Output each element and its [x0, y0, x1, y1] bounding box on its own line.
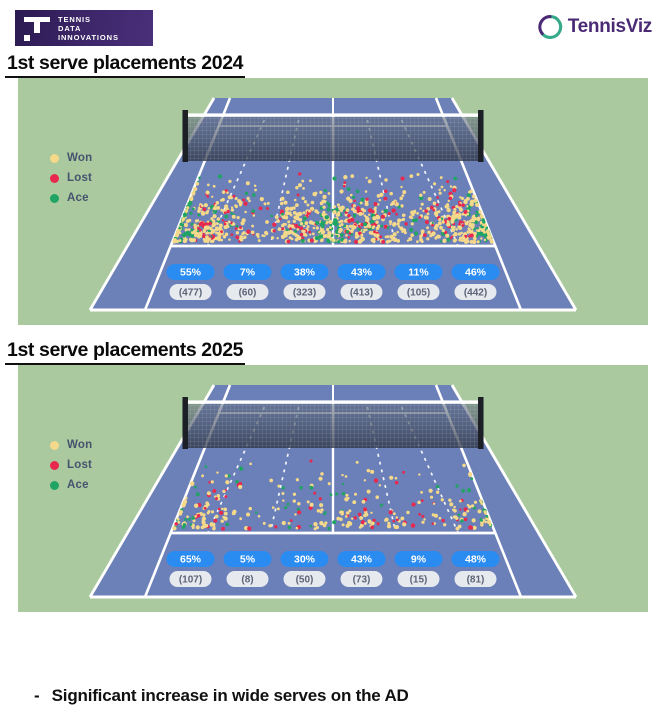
serve-dot	[278, 227, 282, 231]
serve-dot	[360, 234, 363, 237]
serve-dot	[412, 503, 416, 507]
serve-dot	[367, 519, 371, 523]
court-diagram: 55%(477)7%(60)38%(323)43%(413)11%(105)46…	[18, 78, 648, 325]
legend-label-lost: Lost	[67, 172, 92, 184]
serve-dot	[416, 212, 419, 215]
serve-dot	[188, 518, 191, 521]
serve-dot	[391, 236, 394, 239]
won-swatch-icon	[50, 154, 59, 163]
serve-dot	[425, 220, 429, 224]
serve-dot	[411, 222, 414, 225]
serve-dot	[482, 508, 484, 510]
serve-dot	[395, 481, 399, 485]
serve-dot	[208, 207, 211, 210]
zone-count-label: (105)	[407, 288, 430, 299]
serve-dot	[469, 202, 473, 206]
serve-dot	[235, 197, 238, 200]
serve-dot	[462, 224, 465, 227]
serve-dot	[313, 522, 317, 526]
serve-dot	[441, 519, 444, 522]
serve-dot	[239, 466, 243, 470]
serve-dot	[443, 523, 446, 526]
serve-dot	[281, 213, 284, 216]
serve-dot	[385, 518, 389, 522]
serve-dot	[228, 195, 232, 199]
serve-dot	[332, 239, 336, 243]
zone-percentage-label: 38%	[294, 267, 316, 279]
serve-dot	[310, 525, 313, 528]
serve-dot	[307, 500, 310, 503]
serve-dot	[272, 223, 276, 227]
serve-dot	[431, 522, 434, 525]
serve-dot	[396, 518, 399, 521]
serve-dot	[190, 523, 193, 526]
serve-dot	[389, 476, 393, 480]
serve-dot	[259, 207, 263, 211]
serve-dot	[287, 503, 290, 506]
serve-dot	[343, 181, 346, 184]
serve-dot	[218, 508, 221, 511]
serve-dot	[350, 194, 353, 197]
serve-dot	[224, 211, 227, 214]
ace-swatch-icon	[50, 194, 59, 203]
serve-dot	[432, 209, 435, 212]
legend-item-won: Won	[50, 152, 92, 164]
serve-dot	[449, 502, 453, 506]
serve-dot	[404, 231, 407, 234]
serve-dot	[310, 503, 314, 507]
serve-dot	[183, 523, 186, 526]
serve-dot	[402, 471, 405, 474]
serve-dot	[337, 240, 340, 243]
serve-dot	[340, 233, 344, 237]
serve-dot	[309, 220, 313, 224]
serve-dot	[373, 230, 376, 233]
serve-dot	[217, 232, 221, 236]
serve-dot	[483, 510, 486, 513]
serve-dot	[431, 232, 435, 236]
won-swatch-icon	[50, 441, 59, 450]
serve-dot	[421, 521, 424, 524]
serve-dot	[239, 226, 242, 229]
serve-dot	[367, 490, 371, 494]
serve-dot	[436, 485, 439, 488]
serve-dot	[458, 238, 461, 241]
serve-dot	[485, 515, 488, 518]
serve-dot	[254, 184, 257, 187]
serve-dot	[221, 508, 223, 510]
serve-dot	[183, 501, 186, 504]
serve-dot	[220, 199, 223, 202]
zone-percentage-label: 43%	[351, 267, 373, 279]
serve-dot	[350, 218, 354, 222]
serve-dot	[327, 216, 329, 218]
serve-dot	[308, 231, 311, 234]
serve-dot	[210, 207, 213, 210]
serve-dot	[274, 525, 277, 528]
serve-dot	[477, 240, 480, 243]
serve-dot	[365, 229, 368, 232]
legend-label-won: Won	[67, 152, 92, 164]
serve-dot	[337, 203, 340, 206]
serve-dot	[420, 491, 423, 494]
serve-dot	[210, 240, 213, 243]
serve-dot	[183, 213, 187, 217]
serve-dot	[394, 525, 398, 529]
serve-dot	[435, 214, 438, 217]
serve-dot	[306, 204, 309, 207]
serve-dot	[433, 182, 436, 185]
serve-dot	[324, 234, 328, 238]
tennisviz-ring-icon	[537, 14, 563, 40]
serve-dot	[248, 200, 251, 203]
serve-dot	[301, 230, 304, 233]
serve-dot	[228, 220, 231, 223]
serve-dot	[232, 223, 235, 226]
serve-dot	[388, 212, 391, 215]
serve-dot	[293, 493, 296, 496]
serve-dot	[461, 489, 465, 493]
serve-dot	[346, 228, 349, 231]
serve-dot	[377, 194, 381, 198]
serve-dot	[188, 219, 191, 222]
serve-dot	[260, 197, 264, 201]
serve-dot	[297, 510, 301, 514]
serve-dot	[283, 223, 285, 225]
serve-dot	[289, 230, 293, 234]
net-post-left	[182, 110, 188, 162]
serve-dot	[434, 226, 438, 230]
serve-dot	[452, 508, 455, 511]
legend-label-ace: Ace	[67, 479, 89, 491]
serve-dot	[400, 204, 403, 207]
serve-dot	[339, 224, 342, 227]
serve-dot	[221, 520, 224, 523]
serve-dot	[205, 235, 209, 239]
serve-dot	[307, 225, 310, 228]
serve-dot	[360, 198, 364, 202]
serve-dot	[328, 192, 331, 195]
serve-dot	[489, 524, 492, 527]
serve-dot	[453, 208, 456, 211]
serve-dot	[321, 200, 325, 204]
serve-dot	[358, 228, 361, 231]
serve-dot	[284, 231, 288, 235]
serve-dot	[224, 223, 227, 226]
serve-dot	[345, 494, 348, 497]
serve-dot	[208, 237, 211, 240]
serve-dot	[423, 518, 425, 520]
serve-dot	[311, 201, 315, 205]
serve-dot	[246, 230, 250, 234]
serve-dot	[286, 229, 289, 232]
legend-item-lost: Lost	[50, 172, 92, 184]
serve-dot	[393, 232, 397, 236]
serve-dot	[363, 222, 367, 226]
serve-dot	[353, 200, 356, 203]
serve-dot	[290, 519, 293, 522]
serve-dot	[446, 208, 450, 212]
serve-dot	[343, 185, 346, 188]
serve-dot	[423, 191, 426, 194]
zone-count-label: (60)	[239, 288, 257, 299]
serve-dot	[342, 523, 345, 526]
serve-dot	[212, 527, 216, 531]
serve-dot	[298, 183, 302, 187]
serve-dot	[410, 233, 414, 237]
serve-dot	[297, 502, 301, 506]
serve-dot	[293, 499, 296, 502]
serve-dot	[412, 210, 416, 214]
serve-dot	[192, 207, 195, 210]
serve-dot	[324, 189, 327, 192]
serve-dot	[377, 224, 380, 227]
serve-dot	[201, 210, 204, 213]
serve-dot	[384, 197, 388, 201]
serve-dot	[466, 221, 469, 224]
serve-dot	[417, 501, 421, 505]
serve-dot	[467, 488, 471, 492]
serve-dot	[212, 489, 216, 493]
serve-dot	[312, 192, 316, 196]
serve-dot	[408, 237, 412, 241]
serve-dot	[239, 517, 242, 520]
serve-dot	[189, 212, 192, 215]
serve-dot	[475, 203, 479, 207]
serve-dot	[370, 526, 374, 530]
serve-dot	[467, 504, 470, 507]
serve-dot	[430, 206, 434, 210]
serve-dot	[197, 214, 200, 217]
serve-dot	[321, 238, 324, 241]
serve-dot	[184, 223, 188, 227]
serve-dot	[191, 234, 195, 238]
serve-dot	[426, 237, 429, 240]
serve-dot	[352, 500, 356, 504]
serve-dot	[345, 515, 348, 518]
serve-dot	[245, 192, 248, 195]
serve-dot	[188, 228, 191, 231]
serve-dot	[371, 233, 373, 235]
serve-dot	[301, 239, 305, 243]
panel-title-2024: 1st serve placements 2024	[5, 52, 245, 78]
serve-dot	[252, 193, 256, 197]
serve-dot	[458, 203, 461, 206]
serve-dot	[231, 208, 234, 211]
serve-dot	[436, 491, 439, 494]
serve-dot	[313, 492, 316, 495]
serve-dot	[479, 211, 482, 214]
serve-dot	[202, 233, 204, 235]
serve-dot	[193, 191, 196, 194]
serve-dot	[186, 206, 189, 209]
serve-dot	[462, 464, 466, 468]
serve-dot	[480, 519, 483, 522]
serve-dot	[205, 524, 209, 528]
serve-dot	[368, 179, 372, 183]
serve-dot	[424, 215, 428, 219]
serve-dot	[473, 526, 477, 530]
serve-dot	[222, 516, 225, 519]
serve-dot	[451, 214, 455, 218]
serve-placement-panel-2024: 1st serve placements 2024 55%(477)7%(60)…	[0, 52, 666, 325]
serve-dot	[232, 215, 236, 219]
serve-dot	[237, 199, 241, 203]
serve-dot	[271, 236, 274, 239]
serve-dot	[411, 216, 414, 219]
serve-dot	[377, 522, 380, 525]
serve-dot	[218, 174, 222, 178]
serve-dot	[365, 513, 369, 517]
serve-dot	[356, 190, 360, 194]
serve-dot	[242, 218, 246, 222]
serve-dot	[211, 480, 214, 483]
serve-dot	[198, 232, 202, 236]
serve-dot	[243, 235, 247, 239]
serve-dot	[299, 486, 302, 489]
zone-count-label: (81)	[467, 575, 485, 586]
serve-dot	[222, 219, 224, 221]
serve-dot	[421, 240, 424, 243]
serve-dot	[296, 527, 299, 530]
serve-dot	[336, 517, 340, 521]
serve-dot	[458, 226, 462, 230]
serve-dot	[180, 223, 183, 226]
serve-dot	[237, 216, 240, 219]
serve-dot	[201, 204, 204, 207]
serve-dot	[249, 463, 252, 466]
serve-dot	[389, 240, 391, 242]
serve-dot	[203, 229, 207, 233]
zone-percentage-label: 43%	[351, 554, 373, 566]
serve-dot	[462, 512, 466, 516]
serve-dot	[197, 209, 201, 213]
serve-dot	[325, 222, 328, 225]
serve-dot	[380, 504, 383, 507]
serve-dot	[424, 209, 428, 213]
serve-dot	[349, 225, 352, 228]
serve-dot	[211, 229, 215, 233]
serve-dot	[282, 521, 286, 525]
serve-dot	[448, 215, 450, 217]
serve-dot	[346, 196, 350, 200]
serve-dot	[342, 483, 344, 485]
serve-dot	[270, 215, 273, 218]
net-post-right	[478, 397, 484, 449]
serve-dot	[232, 511, 236, 515]
serve-dot	[440, 240, 442, 242]
tennis-data-innovations-logo: TENNIS DATA INNOVATIONS	[15, 10, 153, 46]
legend-item-ace: Ace	[50, 479, 92, 491]
serve-dot	[277, 485, 280, 488]
serve-dot	[436, 196, 439, 199]
page-header: TENNIS DATA INNOVATIONS TennisViz	[0, 0, 666, 52]
serve-dot	[317, 509, 320, 512]
serve-dot	[318, 231, 320, 233]
serve-dot	[381, 210, 383, 212]
serve-dot	[276, 237, 278, 239]
serve-dot	[254, 189, 257, 192]
serve-dot	[264, 231, 268, 235]
serve-dot	[419, 207, 422, 210]
serve-dot	[175, 233, 179, 237]
serve-dot	[289, 236, 292, 239]
serve-dot	[205, 211, 209, 215]
serve-dot	[186, 515, 189, 518]
serve-dot	[184, 518, 187, 521]
serve-dot	[264, 202, 267, 205]
serve-dot	[329, 226, 332, 229]
net-tape	[187, 400, 478, 403]
serve-dot	[235, 205, 238, 208]
serve-dot	[442, 221, 445, 224]
serve-dot	[315, 236, 319, 240]
serve-dot	[374, 202, 378, 206]
serve-dot	[391, 238, 394, 241]
serve-dot	[438, 218, 441, 221]
serve-dot	[251, 230, 255, 234]
legend-2024: Won Lost Ace	[50, 152, 92, 204]
serve-dot	[312, 233, 315, 236]
serve-dot	[396, 231, 399, 234]
serve-dot	[341, 474, 343, 476]
serve-dot	[356, 221, 359, 224]
serve-dot	[247, 526, 251, 530]
serve-dot	[409, 228, 413, 232]
serve-dot	[249, 507, 252, 510]
serve-dot	[355, 235, 359, 239]
serve-dot	[210, 217, 213, 220]
footnote: - Significant increase in wide serves on…	[0, 686, 666, 706]
serve-dot	[288, 526, 292, 530]
serve-dot	[319, 521, 323, 525]
serve-dot	[239, 203, 242, 206]
serve-dot	[466, 213, 469, 216]
serve-dot	[195, 219, 198, 222]
serve-dot	[355, 232, 358, 235]
serve-dot	[322, 205, 325, 208]
serve-dot	[368, 214, 370, 216]
serve-dot	[207, 510, 210, 513]
serve-dot	[309, 179, 312, 182]
serve-dot	[197, 514, 200, 517]
serve-dot	[470, 234, 474, 238]
tennisviz-wordmark: TennisViz	[568, 16, 652, 38]
serve-dot	[315, 221, 319, 225]
serve-dot	[402, 522, 406, 526]
serve-dot	[212, 224, 216, 228]
serve-dot	[384, 178, 387, 181]
serve-dot	[428, 197, 432, 201]
serve-dot	[342, 492, 346, 496]
serve-dot	[216, 222, 219, 225]
serve-dot	[326, 202, 329, 205]
serve-dot	[332, 210, 336, 214]
serve-dot	[462, 221, 464, 223]
serve-dot	[321, 226, 324, 229]
serve-dot	[316, 226, 319, 229]
serve-dot	[333, 218, 337, 222]
serve-dot	[354, 493, 357, 496]
serve-dot	[265, 220, 269, 224]
zone-percentage-label: 65%	[180, 554, 202, 566]
serve-dot	[447, 217, 451, 221]
serve-dot	[373, 519, 376, 522]
serve-dot	[344, 497, 348, 501]
serve-dot	[384, 209, 388, 213]
serve-dot	[455, 205, 458, 208]
serve-dot	[280, 197, 284, 201]
